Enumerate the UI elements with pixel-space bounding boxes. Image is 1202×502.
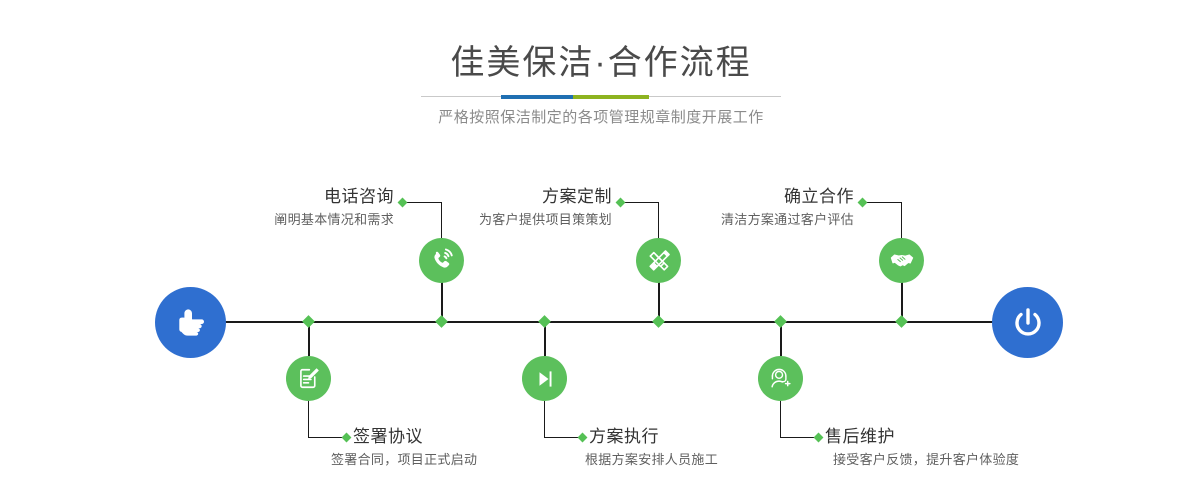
step-3-leader-vertical (658, 202, 659, 238)
step-6-label: 售后维护 接受客户反馈，提升客户体验度 (825, 426, 1085, 470)
step-1-icon-circle (419, 238, 464, 283)
power-button-icon (1008, 303, 1048, 343)
step-5-icon-circle (879, 238, 924, 283)
page-subtitle: 严格按照保洁制定的各项管理规章制度开展工作 (0, 105, 1202, 131)
step-2-label-marker (342, 433, 352, 443)
step-5-label: 确立合作 清洁方案通过客户评估 (654, 186, 854, 230)
step-2-icon-circle (286, 356, 331, 401)
step-3-label-marker (616, 198, 626, 208)
step-6-icon-circle (758, 356, 803, 401)
pencil-ruler-icon (646, 248, 672, 274)
step-4-desc: 根据方案安排人员施工 (585, 450, 829, 470)
step-2-axis-marker (302, 315, 315, 328)
step-6-title: 售后维护 (825, 426, 1085, 448)
step-5-title: 确立合作 (654, 186, 854, 208)
step-1-label: 电话咨询 阐明基本情况和需求 (196, 186, 394, 230)
step-3-title: 方案定制 (414, 186, 612, 208)
timeline-start-node (155, 287, 226, 358)
step-4-leader-vertical (544, 401, 545, 437)
step-3-axis-marker (652, 315, 665, 328)
step-6-axis-marker (774, 315, 787, 328)
step-5-desc: 清洁方案通过客户评估 (654, 210, 854, 230)
step-1-leader-horizontal (406, 202, 442, 203)
divider-segment-blue (501, 95, 573, 99)
step-3-leader-horizontal (624, 202, 659, 203)
step-1-desc: 阐明基本情况和需求 (196, 210, 394, 230)
step-1-leader-vertical (441, 202, 442, 238)
step-4-label: 方案执行 根据方案安排人员施工 (589, 426, 829, 470)
step-5-leader-horizontal (866, 202, 902, 203)
step-1-title: 电话咨询 (196, 186, 394, 208)
step-3-label: 方案定制 为客户提供项目策策划 (414, 186, 612, 230)
handshake-icon (889, 248, 915, 274)
step-2-desc: 签署合同，项目正式启动 (331, 450, 593, 470)
process-flow-infographic: 佳美保洁·合作流程 严格按照保洁制定的各项管理规章制度开展工作 (0, 0, 1202, 502)
step-5-axis-marker (895, 315, 908, 328)
step-1-label-marker (398, 198, 408, 208)
step-4-axis-marker (538, 315, 551, 328)
page-title: 佳美保洁·合作流程 (0, 40, 1202, 86)
pointing-hand-icon (171, 303, 211, 343)
step-2-label: 签署协议 签署合同，项目正式启动 (353, 426, 593, 470)
customer-service-add-icon (768, 366, 793, 391)
step-4-icon-circle (522, 356, 567, 401)
divider-segment-green (573, 95, 649, 99)
step-1-axis-marker (435, 315, 448, 328)
timeline-end-node (992, 287, 1063, 358)
play-next-icon (533, 367, 557, 391)
step-3-icon-circle (636, 238, 681, 283)
title-divider (421, 95, 781, 99)
timeline-axis (158, 321, 1044, 323)
phone-call-icon (428, 247, 455, 274)
step-6-desc: 接受客户反馈，提升客户体验度 (833, 450, 1085, 470)
step-3-desc: 为客户提供项目策策划 (414, 210, 612, 230)
step-2-leader-vertical (308, 401, 309, 437)
document-sign-icon (296, 366, 321, 391)
step-5-label-marker (858, 198, 868, 208)
step-5-leader-vertical (901, 202, 902, 238)
step-6-leader-vertical (780, 401, 781, 437)
